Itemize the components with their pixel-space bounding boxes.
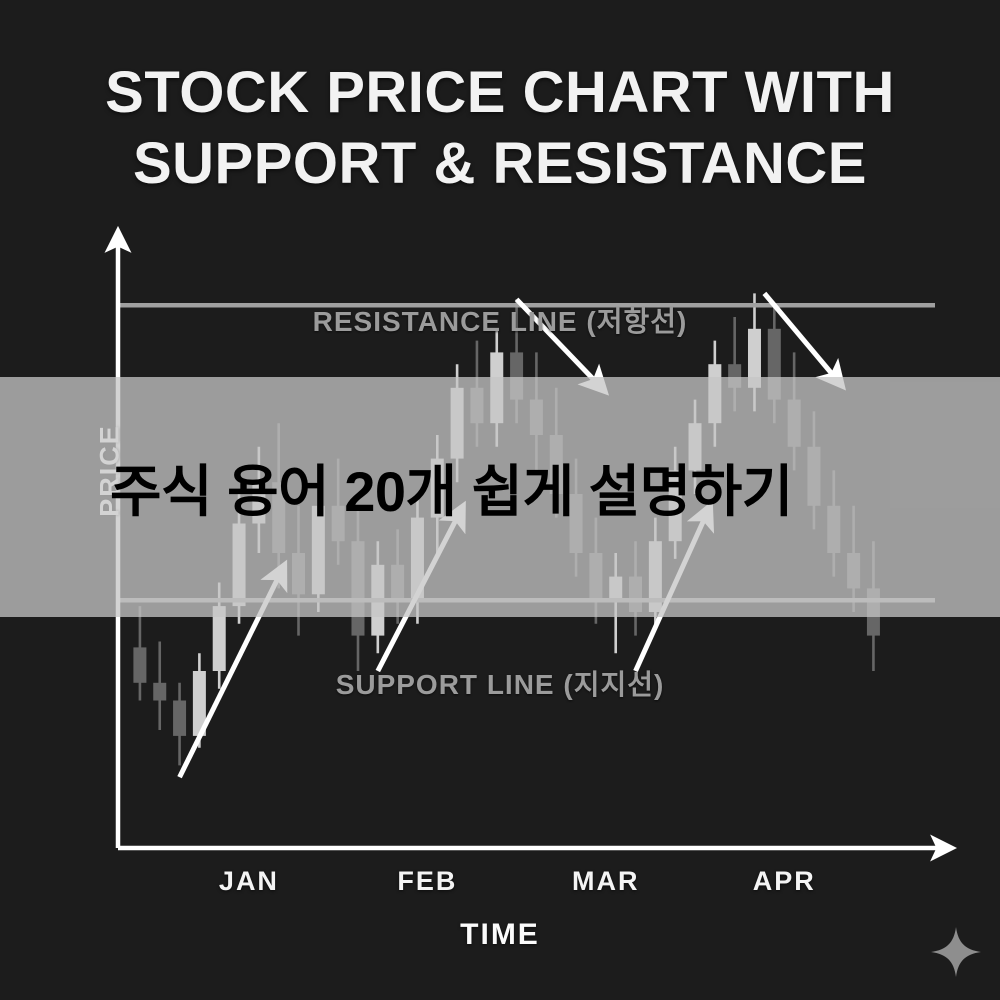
x-tick-mar: MAR: [546, 866, 666, 897]
overlay-banner-text: 주식 용어 20개 쉽게 설명하기: [110, 447, 793, 528]
resistance-line-label: RESISTANCE LINE (저항선): [0, 300, 1000, 340]
candle-body: [173, 701, 186, 736]
sparkle-icon: [930, 926, 982, 978]
x-tick-apr: APR: [724, 866, 844, 897]
x-tick-jan: JAN: [189, 866, 309, 897]
x-axis-label: TIME: [0, 918, 1000, 952]
support-line-label: SUPPORT LINE (지지선): [0, 663, 1000, 703]
stock-chart-graphic: STOCK PRICE CHART WITH SUPPORT & RESISTA…: [0, 0, 1000, 1000]
x-tick-feb: FEB: [367, 866, 487, 897]
